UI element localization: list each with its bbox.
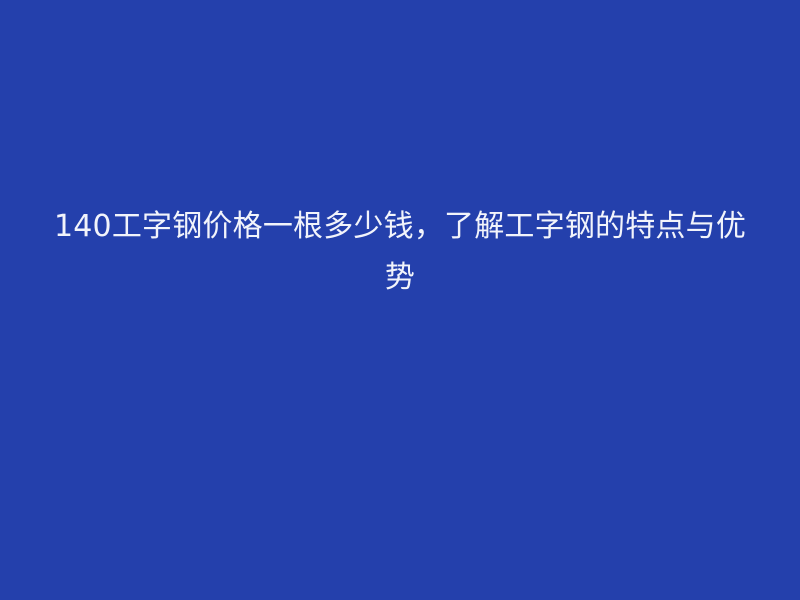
page-title: 140工字钢价格一根多少钱，了解工字钢的特点与优势 — [50, 201, 750, 303]
headline-block: 140工字钢价格一根多少钱，了解工字钢的特点与优势 — [50, 201, 750, 303]
banner-card: 140工字钢价格一根多少钱，了解工字钢的特点与优势 — [0, 0, 800, 600]
